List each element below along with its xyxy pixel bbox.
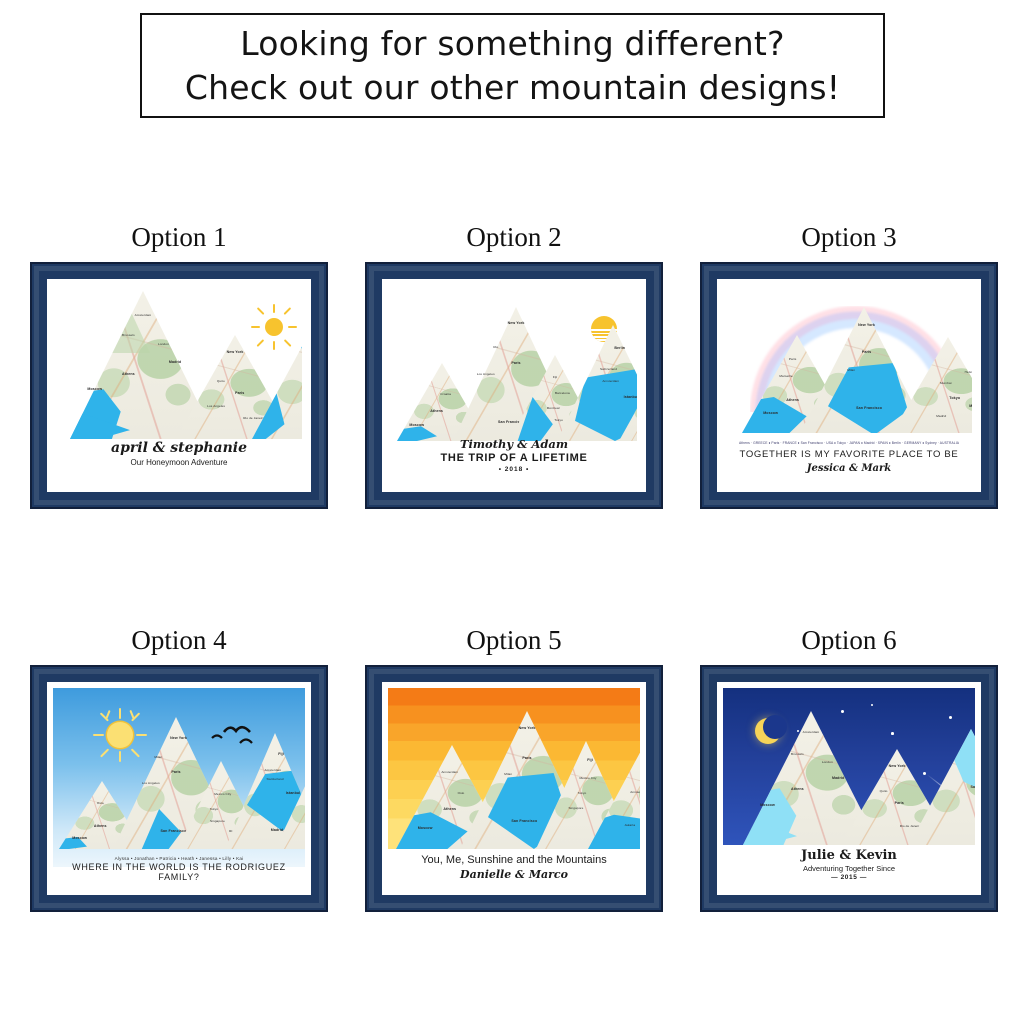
map-label: Amsterdam [135, 313, 152, 317]
map-label: Marseille [779, 374, 792, 378]
map-label: New York [858, 323, 875, 327]
product-option-2[interactable]: Option 2 Croatia [365, 222, 663, 510]
mountain-range: Paris Marseille Athens Moscow New York P… [726, 307, 972, 433]
map-label: Tokyo [949, 396, 960, 400]
map-label: Athens [122, 372, 135, 376]
map-label: Switzerland [600, 367, 617, 371]
map-label: Paris [235, 391, 244, 395]
caption-city-list: Athens · GREECE ♦ Paris · FRANCE ♦ San F… [726, 441, 972, 445]
map-label: Moscow [760, 803, 775, 807]
map-label: Paris [789, 357, 797, 361]
mountain-range: Amsterdam Brussels London Madrid Athens … [56, 289, 302, 439]
mountain-range: Oslo Athens Moscow New York Milan Paris … [53, 701, 305, 849]
map-label: London [158, 342, 169, 346]
mat-board: Croatia Athens Moscow New York Rio Paris… [382, 279, 646, 492]
map-label: New York [519, 726, 536, 730]
map-label: Madrid [936, 414, 946, 418]
banner-line-2: Check out our other mountain designs! [185, 66, 840, 110]
map-label: Jakarta [624, 823, 635, 827]
mountain-peak-right: San Francisco Tokyo Santiago [252, 315, 302, 439]
artwork-option-4: Oslo Athens Moscow New York Milan Paris … [53, 688, 305, 889]
map-label: Moscow [87, 387, 102, 391]
caption-headline: WHERE IN THE WORLD IS THE RODRIGUEZ FAMI… [53, 862, 305, 882]
map-triangle [275, 757, 305, 849]
product-option-4[interactable]: Option 4 [30, 625, 328, 913]
mountain-peak-5: Berlin [275, 757, 305, 849]
picture-frame[interactable]: Croatia Athens Moscow New York Rio Paris… [365, 262, 663, 509]
map-label: Paris [862, 350, 871, 354]
caption-headline: THE TRIP OF A LIFETIME [391, 452, 637, 464]
product-option-5[interactable]: Option 5 Amsterdam Oslo Athens Moscow [365, 625, 663, 913]
caption-subtitle: Adventuring Together Since [723, 864, 975, 873]
map-label: Brussels [791, 752, 804, 756]
map-label: Amsterdam [630, 790, 640, 794]
map-label: Mumbai [940, 381, 952, 385]
mat-board: Amsterdam Oslo Athens Moscow New York Pa… [382, 682, 646, 895]
map-label: London [822, 760, 833, 764]
map-label: Los Angeles [477, 372, 495, 376]
mat-board: Amsterdam Brussels London Madrid Athens … [47, 279, 311, 492]
option-6-title: Option 6 [700, 625, 998, 656]
map-label: Montreal [969, 404, 972, 408]
mountain-peak-5: Beijing [619, 367, 637, 441]
map-label: Moscow [418, 826, 433, 830]
map-label: Singapore [568, 806, 583, 810]
map-label: Helsinki [965, 370, 972, 374]
map-label: Amsterdam [441, 770, 458, 774]
caption-headline: TOGETHER IS MY FAVORITE PLACE TO BE [726, 449, 972, 460]
map-label: Athens [94, 824, 107, 828]
product-option-1[interactable]: Option 1 [30, 222, 328, 510]
option-2-title: Option 2 [365, 222, 663, 253]
map-label: Rio [493, 345, 498, 349]
map-label: Amsterdam [803, 730, 820, 734]
caption-year: • 2018 • [391, 466, 637, 473]
caption-subtitle: Our Honeymoon Adventure [56, 458, 302, 467]
caption-script: Jessica & Mark [726, 463, 972, 474]
map-label: Quito [217, 379, 225, 383]
caption-option-1: april & stephanie Our Honeymoon Adventur… [56, 440, 302, 467]
map-label: Fiji [278, 752, 284, 756]
picture-frame[interactable]: Amsterdam Brussels London Madrid Athens … [30, 262, 328, 509]
mountain-peak-right: San Francisco Tokyo Santiago [909, 729, 975, 845]
map-label: San Francisco [856, 406, 882, 410]
mat-board: Oslo Athens Moscow New York Milan Paris … [47, 682, 311, 895]
map-label: Berlin [614, 346, 625, 350]
caption-script: april & stephanie [56, 440, 302, 456]
picture-frame[interactable]: Amsterdam Oslo Athens Moscow New York Pa… [365, 665, 663, 912]
map-label: Milan [504, 772, 512, 776]
map-label: Tokyo [210, 807, 219, 811]
map-label: San Francisco [970, 785, 975, 789]
product-option-3[interactable]: Option 3 Paris Marseille A [700, 222, 998, 510]
caption-option-4: WHERE IN THE WORLD IS THE RODRIGUEZ FAMI… [53, 862, 305, 882]
map-label: Athens [443, 807, 456, 811]
caption-headline: You, Me, Sunshine and the Mountains [388, 854, 640, 866]
map-label: Moscow [72, 836, 87, 840]
caption-option-5: You, Me, Sunshine and the Mountains Dani… [388, 854, 640, 881]
mountain-range: Amsterdam Brussels London Madrid Athens … [723, 709, 975, 845]
caption-script: Julie & Kevin [723, 848, 975, 863]
map-label: New York [508, 321, 525, 325]
map-label: Moscow [763, 411, 778, 415]
map-label: San Francisco [511, 819, 537, 823]
map-triangle [619, 367, 637, 441]
map-label: New York [227, 350, 244, 354]
picture-frame[interactable]: Amsterdam Brussels London Madrid Athens … [700, 665, 998, 912]
map-label: Athens [791, 787, 804, 791]
map-label: Athens [786, 398, 799, 402]
caption-year: — 2015 — [723, 874, 975, 881]
picture-frame[interactable]: Oslo Athens Moscow New York Milan Paris … [30, 665, 328, 912]
map-label: Oslo [97, 801, 104, 805]
option-5-title: Option 5 [365, 625, 663, 656]
promo-banner: Looking for something different? Check o… [140, 13, 885, 118]
artwork-option-2: Croatia Athens Moscow New York Rio Paris… [391, 288, 637, 483]
map-label: Los Angeles [142, 781, 160, 785]
mountain-peak-right: Helsinki Mumbai Tokyo Montreal Madrid [892, 337, 972, 433]
artwork-option-5: Amsterdam Oslo Athens Moscow New York Pa… [388, 688, 640, 889]
caption-option-2: Timothy & Adam THE TRIP OF A LIFETIME • … [391, 437, 637, 473]
map-label: Milan [154, 755, 162, 759]
mat-board: Paris Marseille Athens Moscow New York P… [717, 279, 981, 492]
map-label: Paris [522, 756, 531, 760]
map-label: New York [170, 736, 187, 740]
artwork-option-1: Amsterdam Brussels London Madrid Athens … [56, 288, 302, 483]
map-label: Tokyo [578, 791, 587, 795]
banner-line-1: Looking for something different? [240, 22, 784, 66]
map-label: Los Angeles [207, 404, 225, 408]
map-label: Singapore [210, 819, 225, 823]
map-label: Moscow [409, 423, 424, 427]
caption-script: Danielle & Marco [388, 868, 640, 881]
star-icon [871, 704, 873, 706]
mountain-peak-right: Reykjavik Amsterdam Berlin Copenhagen Ja… [588, 747, 640, 849]
picture-frame[interactable]: Paris Marseille Athens Moscow New York P… [700, 262, 998, 509]
product-option-6[interactable]: Option 6 [700, 625, 998, 913]
map-label: Milan [847, 368, 855, 372]
artwork-option-3: Paris Marseille Athens Moscow New York P… [726, 288, 972, 483]
map-label: Brussels [122, 333, 135, 337]
artwork-option-6: Amsterdam Brussels London Madrid Athens … [723, 688, 975, 889]
mountain-range: Amsterdam Oslo Athens Moscow New York Pa… [388, 709, 640, 849]
option-3-title: Option 3 [700, 222, 998, 253]
caption-option-3: TOGETHER IS MY FAVORITE PLACE TO BE Jess… [726, 449, 972, 474]
option-4-title: Option 4 [30, 625, 328, 656]
caption-family-names: Alyssa • Jonathan • Patricia • Heath • J… [53, 856, 305, 861]
caption-script: Timothy & Adam [391, 437, 637, 451]
map-label: Croatia [440, 392, 451, 396]
map-label: Amsterdam [602, 379, 619, 383]
caption-option-6: Julie & Kevin Adventuring Together Since… [723, 848, 975, 881]
mat-board: Amsterdam Brussels London Madrid Athens … [717, 682, 981, 895]
map-label: Athens [430, 409, 443, 413]
option-1-title: Option 1 [30, 222, 328, 253]
map-label: Quito [880, 789, 888, 793]
mountain-range: Croatia Athens Moscow New York Rio Paris… [391, 305, 637, 441]
map-label: Paris [895, 801, 904, 805]
map-label: New York [889, 764, 906, 768]
